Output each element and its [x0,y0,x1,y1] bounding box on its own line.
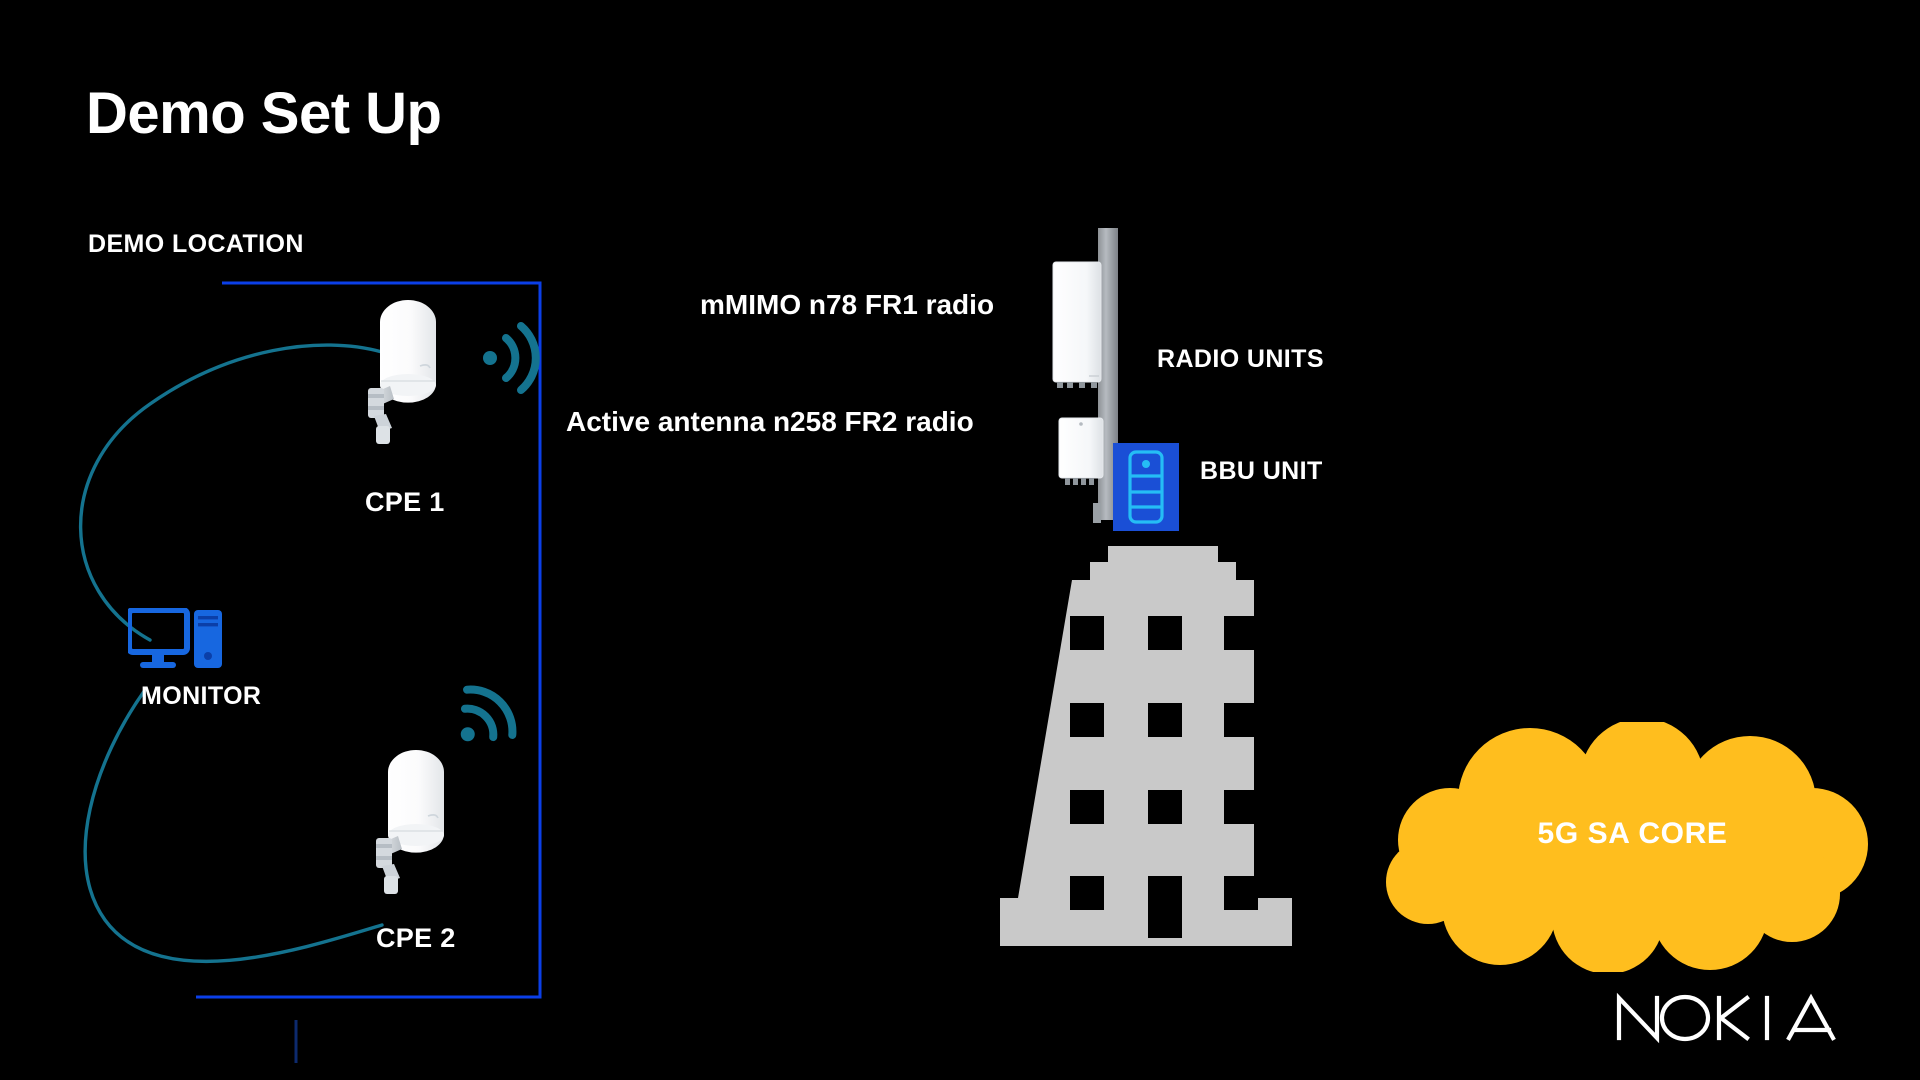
bbu-unit-label: BBU UNIT [1200,457,1323,486]
radio-unit-small-icon [1059,418,1103,485]
radio-units-label: RADIO UNITS [1157,345,1324,374]
cpe-2-label: CPE 2 [376,923,456,954]
active-antenna-radio-label: Active antenna n258 FR2 radio [566,406,974,438]
desktop-computer-icon [129,610,222,668]
cpe-1-signal [478,318,548,398]
cpe-1-label: CPE 1 [365,487,445,518]
nokia-logo [1613,988,1843,1050]
cpe-2-device [368,738,478,898]
office-building [1000,518,1330,988]
radio-unit-large-icon [1053,262,1101,388]
cpe-antenna-icon [376,750,444,894]
monitor-label: MONITOR [141,682,261,711]
core-cloud-label: 5G SA CORE [1500,817,1765,851]
nokia-logo [1619,997,1833,1039]
bbu-unit-badge [1113,443,1179,531]
cpe-antenna-icon [368,300,436,444]
cpe-1-device [360,288,470,448]
monitor-device [128,608,228,676]
wifi-arcs-icon [452,679,523,750]
mmimo-radio-label: mMIMO n78 FR1 radio [700,289,994,321]
wifi-arcs-icon [483,326,536,390]
link-monitor-to-cpe2 [85,690,382,961]
slide-canvas: Demo Set Up DEMO LOCATION [0,0,1920,1080]
cpe-2-signal [452,660,542,750]
link-monitor-to-cpe1 [81,345,382,640]
